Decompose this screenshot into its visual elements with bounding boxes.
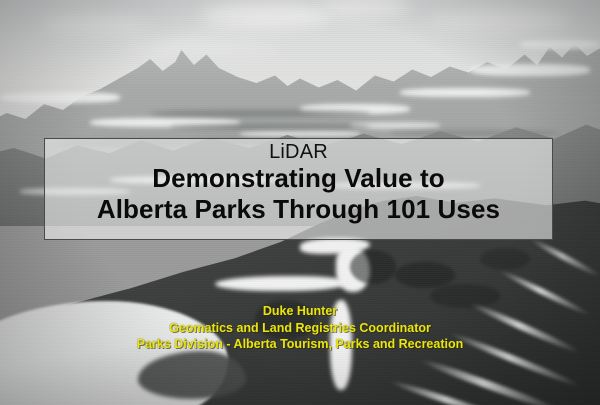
cloud: [40, 16, 150, 34]
presenter-credits: Duke Hunter Geomatics and Land Registrie…: [0, 303, 600, 353]
snow-band: [520, 40, 600, 49]
title-line-1: Demonstrating Value to: [152, 163, 445, 194]
title-kicker: LiDAR: [269, 142, 328, 163]
cloud: [430, 10, 570, 32]
snow-gully: [215, 276, 345, 291]
scree-texture: [350, 250, 396, 284]
presentation-title-slide: LiDAR Demonstrating Value to Alberta Par…: [0, 0, 600, 405]
presenter-name: Duke Hunter: [0, 303, 600, 320]
presenter-organization: Parks Division - Alberta Tourism, Parks …: [0, 336, 600, 353]
snow-band: [0, 92, 120, 103]
scree-texture: [395, 262, 455, 288]
scree-texture: [480, 248, 530, 270]
rock-strata: [150, 110, 370, 117]
snow-band: [400, 88, 530, 97]
title-line-2: Alberta Parks Through 101 Uses: [97, 194, 500, 225]
title-box: LiDAR Demonstrating Value to Alberta Par…: [44, 138, 553, 240]
snow-band: [470, 64, 590, 76]
presenter-role: Geomatics and Land Registries Coordinato…: [0, 320, 600, 337]
snow-band: [240, 130, 360, 138]
cloud: [120, 40, 280, 56]
rock-strata: [170, 124, 370, 130]
cloud: [200, 2, 330, 28]
